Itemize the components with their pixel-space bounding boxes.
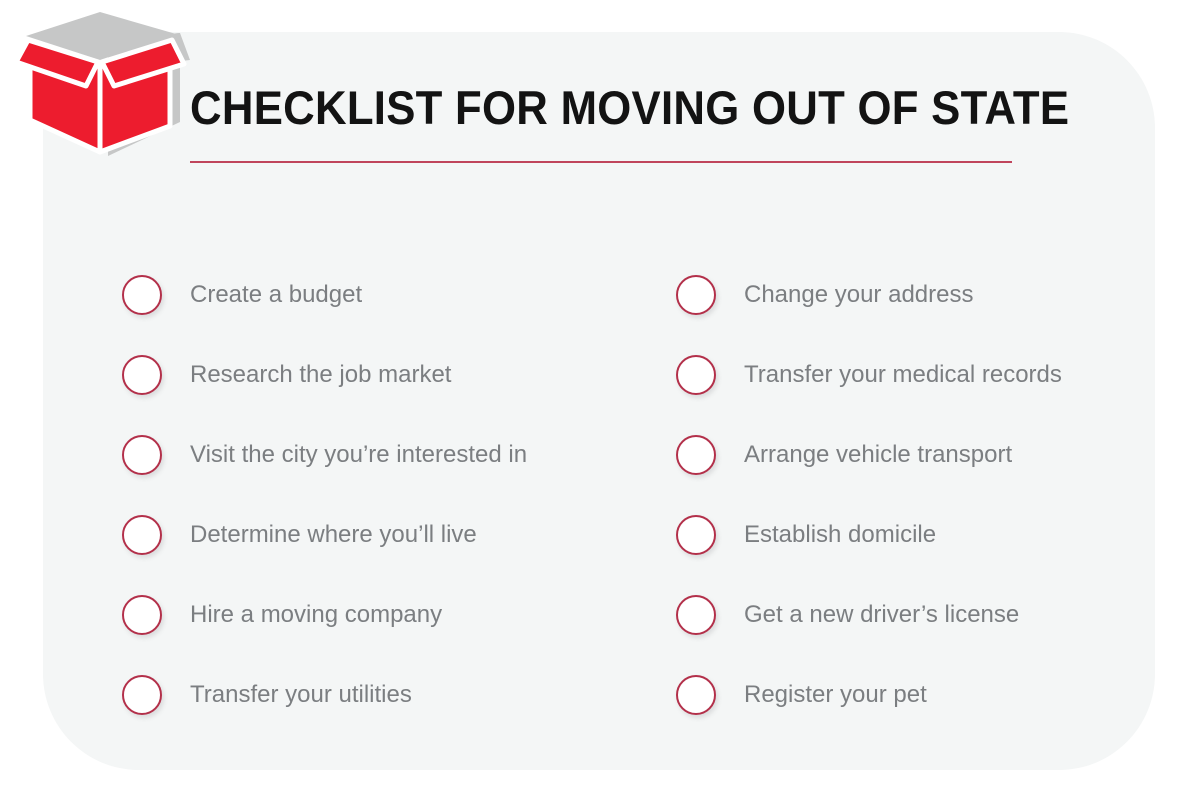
check-item-label: Visit the city you’re interested in [190,441,527,469]
checkbox-circle-icon[interactable] [122,435,162,475]
check-item[interactable]: Register your pet [676,655,1146,735]
check-item-label: Transfer your medical records [744,361,1062,389]
check-item-label: Arrange vehicle transport [744,441,1012,469]
check-item[interactable]: Transfer your utilities [122,655,622,735]
checklist-column-left: Create a budget Research the job market … [122,255,622,735]
checkbox-circle-icon[interactable] [122,675,162,715]
check-item[interactable]: Create a budget [122,255,622,335]
check-item[interactable]: Research the job market [122,335,622,415]
check-item-label: Research the job market [190,361,451,389]
check-item[interactable]: Change your address [676,255,1146,335]
checkbox-circle-icon[interactable] [122,355,162,395]
check-item-label: Register your pet [744,681,927,709]
moving-box-icon [4,6,204,166]
check-item[interactable]: Establish domicile [676,495,1146,575]
checkbox-circle-icon[interactable] [122,595,162,635]
check-item-label: Determine where you’ll live [190,521,477,549]
infographic-root: CHECKLIST FOR MOVING OUT OF STATE Create… [0,0,1200,800]
check-item-label: Hire a moving company [190,601,442,629]
check-item[interactable]: Get a new driver’s license [676,575,1146,655]
check-item[interactable]: Arrange vehicle transport [676,415,1146,495]
checkbox-circle-icon[interactable] [676,355,716,395]
checkbox-circle-icon[interactable] [676,435,716,475]
checkbox-circle-icon[interactable] [676,675,716,715]
check-item-label: Establish domicile [744,521,936,549]
check-item-label: Change your address [744,281,973,309]
checklist-column-right: Change your address Transfer your medica… [676,255,1146,735]
check-item-label: Transfer your utilities [190,681,412,709]
check-item-label: Get a new driver’s license [744,601,1019,629]
check-item[interactable]: Visit the city you’re interested in [122,415,622,495]
checkbox-circle-icon[interactable] [676,515,716,555]
check-item[interactable]: Hire a moving company [122,575,622,655]
checkbox-circle-icon[interactable] [676,595,716,635]
checkbox-circle-icon[interactable] [122,515,162,555]
checkbox-circle-icon[interactable] [122,275,162,315]
check-item[interactable]: Determine where you’ll live [122,495,622,575]
check-item[interactable]: Transfer your medical records [676,335,1146,415]
checkbox-circle-icon[interactable] [676,275,716,315]
check-item-label: Create a budget [190,281,362,309]
